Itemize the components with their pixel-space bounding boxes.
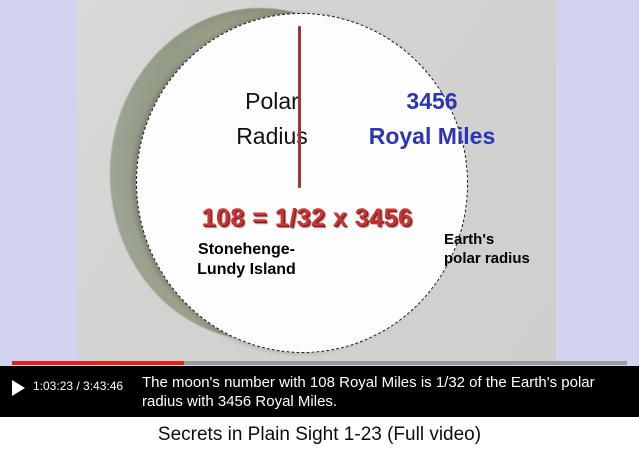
royal-miles-label: 3456 Royal Miles bbox=[352, 84, 512, 154]
polar-radius-line2: Radius bbox=[202, 119, 342, 154]
polar-radius-label: Polar Radius bbox=[202, 84, 342, 154]
polar-radius-line1: Polar bbox=[202, 84, 342, 119]
stonehenge-line2: Lundy Island bbox=[159, 260, 334, 280]
earth-polar-radius-label: Earth's polar radius bbox=[444, 230, 554, 268]
player-control-bar: 1:03:23 / 3:43:46 The moon's number with… bbox=[0, 366, 639, 417]
stonehenge-line1: Stonehenge- bbox=[159, 240, 334, 260]
royal-miles-units: Royal Miles bbox=[352, 119, 512, 154]
radius-divider-line bbox=[298, 26, 301, 188]
disc-content: Polar Radius 3456 Royal Miles 108 = 1/32… bbox=[137, 14, 467, 352]
earth-label-line1: Earth's bbox=[444, 230, 554, 249]
progress-bar-fill[interactable] bbox=[12, 361, 184, 365]
video-viewport[interactable]: Polar Radius 3456 Royal Miles 108 = 1/32… bbox=[78, 0, 556, 361]
stonehenge-lundy-label: Stonehenge- Lundy Island bbox=[159, 240, 334, 280]
royal-miles-value: 3456 bbox=[352, 84, 512, 119]
video-player-page: Polar Radius 3456 Royal Miles 108 = 1/32… bbox=[0, 0, 639, 454]
timecode-display: 1:03:23 / 3:43:46 bbox=[33, 379, 123, 393]
play-icon[interactable] bbox=[12, 380, 25, 396]
earth-label-line2: polar radius bbox=[444, 249, 554, 268]
video-title: Secrets in Plain Sight 1-23 (Full video) bbox=[0, 424, 639, 446]
caption-text: The moon's number with 108 Royal Miles i… bbox=[142, 373, 628, 411]
equation-text: 108 = 1/32 x 3456 bbox=[167, 204, 447, 233]
title-bar: Secrets in Plain Sight 1-23 (Full video) bbox=[0, 417, 639, 454]
progress-bar-track[interactable] bbox=[12, 361, 627, 365]
polar-cross-section-disc: Polar Radius 3456 Royal Miles 108 = 1/32… bbox=[122, 0, 482, 361]
